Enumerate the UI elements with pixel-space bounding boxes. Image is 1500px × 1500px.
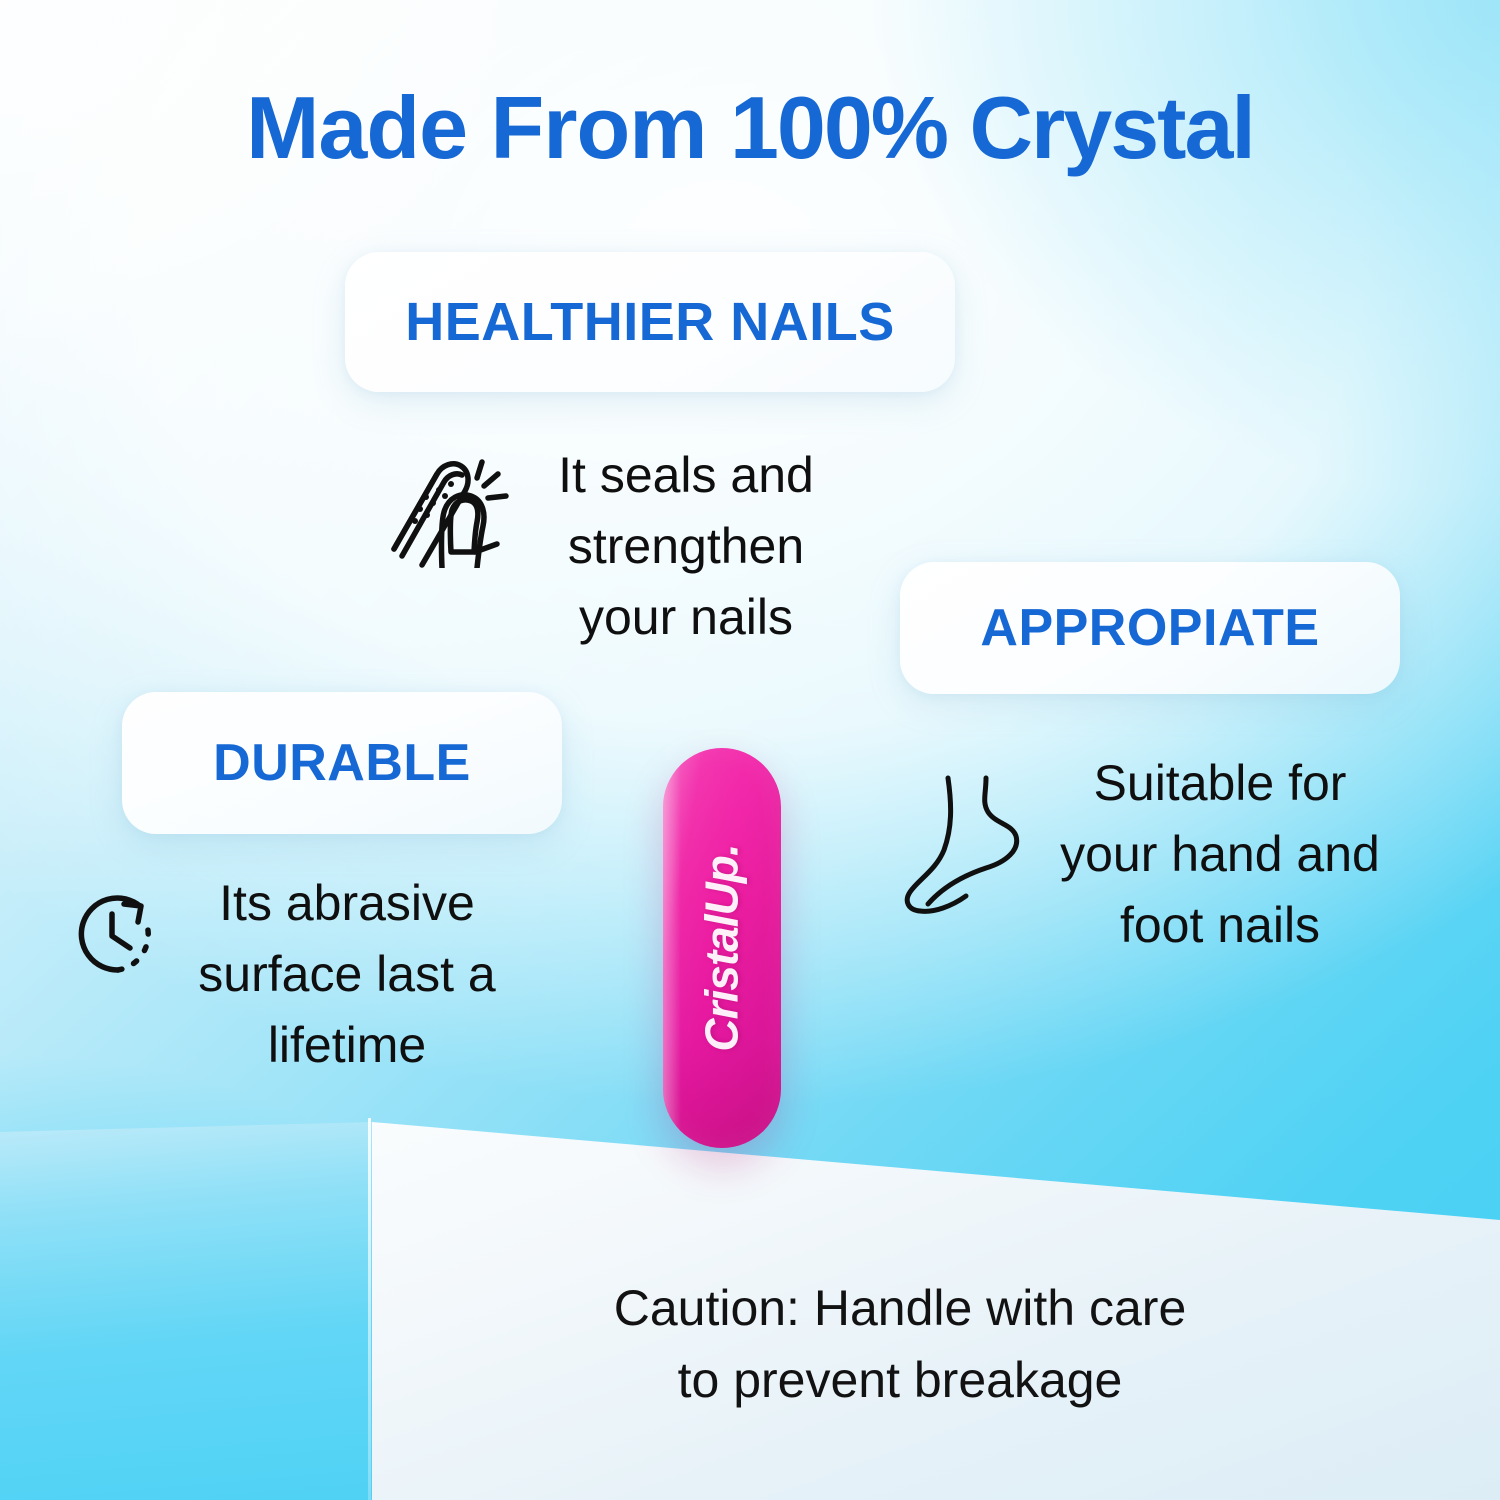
headline-part-1: Made From — [246, 78, 730, 177]
feature-healthier-nails-text: It seals and strengthen your nails — [526, 440, 846, 653]
feature-appropiate-line-2: your hand — [1060, 826, 1282, 882]
page-title: Made From 100% Crystal — [0, 84, 1500, 172]
feature-durable-text: Its abrasive surface last a lifetime — [182, 868, 512, 1081]
feature-appropiate-text: Suitable for your hand and foot nails — [1050, 748, 1390, 961]
badge-appropiate-label: APPROPIATE — [980, 598, 1319, 658]
caution-line-2: to prevent breakage — [440, 1344, 1360, 1416]
foot-icon — [900, 758, 1040, 923]
headline-part-2: 100% Crystal — [730, 78, 1254, 177]
badge-healthier-nails: HEALTHIER NAILS — [345, 252, 955, 392]
product-nail-file: CristalUp. — [663, 748, 781, 1148]
feature-durable: Its abrasive surface last a lifetime — [62, 868, 522, 1081]
feature-healthier-line-3: your nails — [579, 589, 793, 645]
feature-healthier-nails: It seals and strengthen your nails — [382, 440, 852, 653]
badge-durable: DURABLE — [122, 692, 562, 834]
caution-line-1: Caution: Handle with care — [440, 1272, 1360, 1344]
feature-healthier-line-1: It seals and — [558, 447, 814, 503]
feature-healthier-line-2: strengthen — [568, 518, 804, 574]
clock-arrow-icon — [62, 882, 166, 991]
infographic-canvas: Made From 100% Crystal HEALTHIER NAILS A… — [0, 0, 1500, 1500]
nail-file-sparkle-icon — [382, 448, 514, 573]
badge-durable-label: DURABLE — [213, 733, 471, 793]
feature-durable-line-2: surface last — [198, 946, 454, 1002]
feature-appropiate-line-1: Suitable for — [1094, 755, 1347, 811]
pedestal-corner-edge — [368, 1118, 371, 1500]
badge-healthier-nails-label: HEALTHIER NAILS — [405, 291, 895, 353]
caution-note: Caution: Handle with care to prevent bre… — [440, 1272, 1360, 1416]
badge-appropiate: APPROPIATE — [900, 562, 1400, 694]
product-brand-label: CristalUp. — [695, 844, 749, 1051]
feature-appropiate: Suitable for your hand and foot nails — [900, 748, 1400, 961]
feature-durable-line-1: Its abrasive — [219, 875, 475, 931]
